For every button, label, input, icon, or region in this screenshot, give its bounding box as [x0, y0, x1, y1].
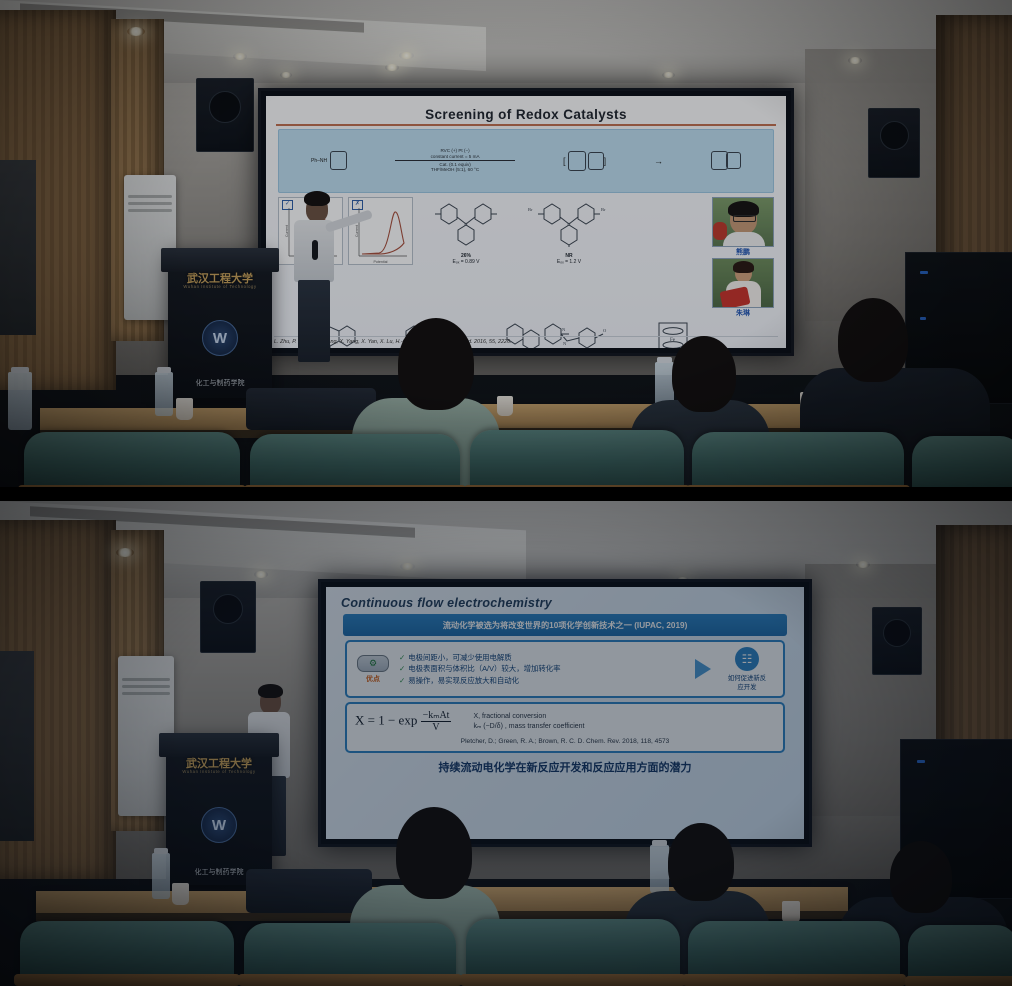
audience-head	[890, 841, 952, 913]
reaction-arrow-icon: →	[654, 156, 663, 166]
audience-head	[672, 336, 736, 412]
podium-top	[159, 733, 280, 757]
presenter	[278, 188, 358, 368]
advantages-card: ⚙ 优点 ✓电极间距小，可减少使用电解质 ✓电极表面积与体积比（A/V）较大，增…	[345, 640, 785, 698]
auditorium-seat	[912, 436, 1012, 487]
microphone-icon	[312, 240, 318, 260]
check-icon: ✓	[399, 664, 405, 673]
photo-bottom-lecture-hall: Continuous flow electrochemistry 流动化学被选为…	[0, 501, 1012, 986]
presenter-hair	[304, 191, 330, 206]
loudspeaker-right	[868, 108, 920, 178]
cv-curve	[349, 198, 412, 264]
advantages-label-block: ⚙ 优点	[354, 655, 392, 684]
audience-head	[396, 807, 472, 899]
podium-university-name-en: Wuhan Institute of Technology	[168, 284, 272, 289]
podium-top	[161, 248, 280, 272]
svg-text:N: N	[464, 223, 468, 228]
hexagon-ring-icon	[568, 151, 586, 171]
check-icon: ✓	[399, 653, 405, 662]
equation-card: X = 1 − exp −kₘAt V X, fractional conver…	[345, 702, 785, 753]
downlight-icon	[254, 571, 268, 578]
water-bottle	[8, 372, 32, 430]
podium: 武汉工程大学 Wuhan Institute of Technology W 化…	[166, 733, 272, 885]
arrow-caption-line2: 应开发	[737, 682, 756, 691]
downlight-icon	[233, 53, 247, 60]
slide-title: Screening of Redox Catalysts	[272, 107, 780, 122]
university-seal: W	[201, 807, 237, 843]
auditorium-seat	[244, 923, 456, 979]
projection-screen: Continuous flow electrochemistry 流动化学被选为…	[326, 587, 804, 839]
paper-cup	[782, 901, 800, 923]
svg-text:Br: Br	[601, 207, 606, 212]
downlight-icon	[662, 72, 675, 78]
presenter-legs	[298, 280, 330, 362]
photo-divider	[0, 487, 1012, 501]
reaction-substrate: Ph–NH	[311, 151, 347, 170]
reaction-intermediate: [ ]	[563, 151, 606, 171]
podium: 武汉工程大学 Wuhan Institute of Technology W 化…	[168, 248, 272, 398]
auditorium-seat	[20, 921, 234, 979]
slide-title: Continuous flow electrochemistry	[341, 596, 797, 610]
downlight-icon	[400, 563, 415, 570]
water-bottle	[152, 853, 170, 899]
catalyst-potential: Eₒₓ = 0.89 V	[418, 259, 514, 265]
downlight-icon	[848, 57, 862, 64]
arrow-icon	[695, 659, 711, 679]
slide-banner: 流动化学被选为将改变世界的10项化学创新技术之一 (IUPAC, 2019)	[343, 614, 787, 636]
audience-head	[838, 298, 908, 382]
lecture-hall-room-top: Screening of Redox Catalysts Ph–NH RVC (…	[0, 0, 1012, 487]
people-network-icon: ☷	[735, 647, 759, 671]
downlight-icon	[856, 561, 870, 568]
hexagon-ring-icon	[588, 152, 604, 170]
side-door[interactable]	[0, 651, 34, 841]
bullet-item: ✓电极表面积与体积比（A/V）较大，增加转化率	[399, 663, 688, 674]
slide-continuous-flow: Continuous flow electrochemistry 流动化学被选为…	[326, 587, 804, 839]
gear-icon: ⚙	[357, 655, 389, 672]
auditorium-seat	[470, 430, 684, 487]
portrait-photo	[712, 258, 774, 308]
auditorium-seat	[250, 434, 460, 487]
projection-screen-frame: Continuous flow electrochemistry 流动化学被选为…	[318, 579, 812, 847]
equation-fraction: −kₘAt V	[421, 710, 452, 733]
university-seal: W	[202, 320, 238, 356]
presenter-hair	[258, 684, 283, 698]
check-icon: ✓	[399, 676, 405, 685]
podium-university-name-en: Wuhan Institute of Technology	[166, 769, 272, 774]
paper-cup	[172, 883, 189, 905]
reaction-product	[711, 151, 741, 170]
screenshot-root: Screening of Redox Catalysts Ph–NH RVC (…	[0, 0, 1012, 986]
catalyst-potential: Eₒₓ = 1.2 V	[519, 259, 619, 265]
bullet-item: ✓电极间距小，可减少使用电解质	[399, 652, 688, 663]
downlight-icon	[385, 64, 399, 71]
equation-legend: X, fractional conversion kₘ (−D/δ) , mas…	[473, 712, 584, 731]
bullet-item: ✓易操作，易实现反应放大和自动化	[399, 675, 688, 686]
legend-line: X, fractional conversion	[473, 712, 584, 721]
water-bottle	[155, 372, 173, 416]
equation-row: X = 1 − exp −kₘAt V X, fractional conver…	[355, 710, 775, 733]
portrait-column: 熊鹏 朱琳	[712, 197, 774, 318]
title-underline	[276, 124, 776, 126]
loudspeaker-right	[872, 607, 922, 675]
svg-text:N: N	[567, 223, 571, 228]
svg-text:O: O	[603, 328, 607, 333]
conversion-equation: X = 1 − exp −kₘAt V	[355, 710, 451, 733]
reaction-scheme: Ph–NH RVC (+) Pt (−) constant current = …	[278, 129, 774, 193]
downlight-icon	[116, 548, 134, 557]
photo-top-lecture-hall: Screening of Redox Catalysts Ph–NH RVC (…	[0, 0, 1012, 487]
water-bottle	[650, 845, 669, 893]
legend-line: kₘ (−D/δ) , mass transfer coefficient	[473, 722, 584, 731]
portrait-name: 熊鹏	[712, 247, 774, 257]
triarylamine-structure: N	[421, 197, 511, 247]
catalyst-cell: N Br Br NR Eₒₓ = 1.2 V	[519, 197, 619, 318]
podium-department: 化工与制药学院	[168, 378, 272, 388]
hexagon-ring-icon	[726, 152, 741, 169]
svg-text:Br: Br	[528, 207, 533, 212]
audience-head	[668, 823, 734, 901]
portrait-photo	[712, 197, 774, 247]
slide-footer: 持续流动电化学在新反应开发和反应应用方面的潜力	[333, 759, 797, 775]
svg-text:N: N	[562, 327, 566, 332]
hexagon-ring-icon	[330, 151, 347, 170]
portrait-name: 朱琳	[712, 308, 774, 318]
auditorium-seat	[688, 921, 900, 979]
loudspeaker-left	[200, 581, 256, 653]
auditorium-seat	[466, 919, 680, 979]
downlight-icon	[127, 27, 145, 36]
lecture-hall-room-bottom: Continuous flow electrochemistry 流动化学被选为…	[0, 501, 1012, 986]
loudspeaker-left	[196, 78, 254, 152]
paper-cup	[497, 396, 513, 416]
tribromoarylamine-structure: N Br Br	[522, 197, 616, 247]
reaction-conditions: RVC (+) Pt (−) constant current = 5 mA C…	[395, 148, 515, 172]
auditorium-seat	[692, 432, 904, 487]
downlight-icon	[280, 72, 292, 78]
arrow-caption-block: ☷ 如何促进新反 应开发	[718, 647, 776, 691]
arrow-caption-line1: 如何促进新反	[728, 673, 766, 682]
advantage-bullets: ✓电极间距小，可减少使用电解质 ✓电极表面积与体积比（A/V）较大，增加转化率 …	[399, 652, 688, 685]
side-door[interactable]	[0, 160, 36, 335]
auditorium-seat	[24, 432, 240, 487]
advantages-label: 优点	[354, 674, 392, 684]
auditorium-seat	[908, 925, 1012, 981]
paper-cup	[176, 398, 193, 420]
equation-citation: Pletcher, D.; Green, R. A.; Brown, R. C.…	[355, 738, 775, 745]
downlight-icon	[399, 52, 414, 59]
audience-head	[398, 318, 474, 410]
catalyst-cell: N 26% Eₒₓ = 0.89 V	[418, 197, 514, 318]
